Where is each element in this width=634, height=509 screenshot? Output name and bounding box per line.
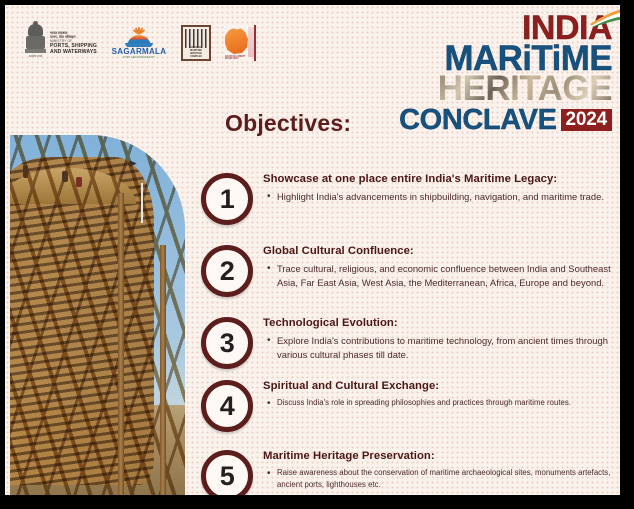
objective-body: Spiritual and Cultural Exchange: Discuss… (263, 380, 616, 409)
sagarmala-tagline: PORT LED PROSPERITY (110, 56, 168, 59)
amrit-label: AZADI KA AMRIT MAHOTSAV (225, 56, 254, 60)
photo-scaffolding (10, 135, 185, 495)
objective-body: Technological Evolution: Explore India's… (263, 317, 616, 361)
objective-bullet-list: Trace cultural, religious, and economic … (263, 262, 616, 289)
objective-bullet: Raise awareness about the conservation o… (277, 467, 616, 490)
objective-number: 2 (220, 258, 235, 285)
sagarmala-logo: SAGARMALA PORT LED PROSPERITY (110, 27, 168, 60)
objective-title: Technological Evolution: (263, 317, 616, 330)
objective-bullet: Trace cultural, religious, and economic … (277, 262, 616, 289)
wordmark-row-heritage: HERITAGE (400, 73, 612, 106)
page-title: Objectives: (225, 110, 351, 137)
amrit-stripe (248, 27, 254, 57)
objective-bullet-list: Discuss India's role in spreading philos… (263, 397, 616, 408)
objective-bullet-list: Highlight India's advancements in shipbu… (263, 190, 616, 203)
objective-body: Maritime Heritage Preservation: Raise aw… (263, 450, 616, 490)
objective-number: 5 (220, 463, 235, 490)
objective-title: Global Cultural Confluence: (263, 245, 616, 258)
objective-number-badge: 4 (201, 380, 253, 432)
objective-item: 3 Technological Evolution: Explore India… (201, 317, 616, 361)
poster-canvas: सत्यमेव जयते भारत सरकार पत्तन, पोत परिवह… (5, 5, 620, 495)
objective-title: Maritime Heritage Preservation: (263, 450, 616, 463)
objective-item: 4 Spiritual and Cultural Exchange: Discu… (201, 380, 616, 409)
objective-title: Spiritual and Cultural Exchange: (263, 380, 616, 393)
wordmark-heritage: HERITAGE (400, 73, 612, 106)
objective-bullet: Explore India's contributions to maritim… (277, 334, 616, 361)
slide-frame: सत्यमेव जयते भारत सरकार पत्तन, पोत परिवह… (0, 0, 634, 509)
partner-logo-strip: सत्यमेव जयते भारत सरकार पत्तन, पोत परिवह… (25, 19, 256, 67)
sagarmala-wordmark: SAGARMALA (110, 48, 168, 56)
objective-number-badge: 3 (201, 317, 253, 369)
photo-worker (76, 177, 82, 187)
wordmark-row-conclave: CONCLAVE 2024 (400, 104, 612, 137)
wordmark-conclave: CONCLAVE (399, 104, 556, 137)
wordmark-year-badge: 2024 (561, 109, 612, 131)
amrit-hand-icon (225, 28, 248, 54)
objective-bullet-list: Explore India's contributions to maritim… (263, 334, 616, 361)
photo-worker (62, 171, 68, 182)
objective-item: 1 Showcase at one place entire India's M… (201, 173, 616, 204)
objective-body: Showcase at one place entire India's Mar… (263, 173, 616, 204)
objective-number-badge: 2 (201, 245, 253, 297)
sagarmala-sun-wave-icon (122, 27, 156, 47)
nmhc-logo: NATIONAL MARITIME HERITAGE COMPLEX (181, 25, 211, 61)
ministry-main-line-2: AND WATERWAYS (50, 49, 97, 55)
bird-icon: ➤ (128, 161, 142, 168)
objective-item: 5 Maritime Heritage Preservation: Raise … (201, 450, 616, 490)
photo-worker (23, 165, 28, 178)
india-state-emblem-icon: सत्यमेव जयते (25, 23, 46, 63)
objective-bullet: Discuss India's role in spreading philos… (277, 397, 616, 408)
photo-scaffold-post-right (160, 245, 166, 496)
emblem-motto: सत्यमेव जयते (25, 54, 46, 58)
photo-mast (141, 183, 143, 223)
objective-number-badge: 5 (201, 450, 253, 495)
ministry-logo: सत्यमेव जयते भारत सरकार पत्तन, पोत परिवह… (25, 23, 97, 63)
objective-number: 4 (220, 393, 235, 420)
objective-body: Global Cultural Confluence: Trace cultur… (263, 245, 616, 289)
objective-number-badge: 1 (201, 173, 253, 225)
amrit-mahotsav-logo: AZADI KA AMRIT MAHOTSAV (224, 25, 256, 61)
objective-bullet-list: Raise awareness about the conservation o… (263, 467, 616, 490)
objective-number: 1 (220, 186, 235, 213)
ministry-text-block: भारत सरकार पत्तन, पोत परिवहन MINISTRY OF… (50, 31, 97, 56)
photo-scaffold-post-left (118, 193, 124, 495)
nmhc-label: NATIONAL MARITIME HERITAGE COMPLEX (183, 46, 209, 58)
wordmark-india: INDIA (522, 13, 612, 45)
objective-number: 3 (220, 330, 235, 357)
objective-bullet: Highlight India's advancements in shipbu… (277, 190, 616, 203)
objective-item: 2 Global Cultural Confluence: Trace cult… (201, 245, 616, 289)
objective-title: Showcase at one place entire India's Mar… (263, 173, 616, 186)
ship-construction-photo: ➤ (10, 135, 185, 495)
india-maritime-heritage-conclave-wordmark: INDIA MARiTiME HERITAGE CONCLAVE 2024 (400, 13, 612, 137)
